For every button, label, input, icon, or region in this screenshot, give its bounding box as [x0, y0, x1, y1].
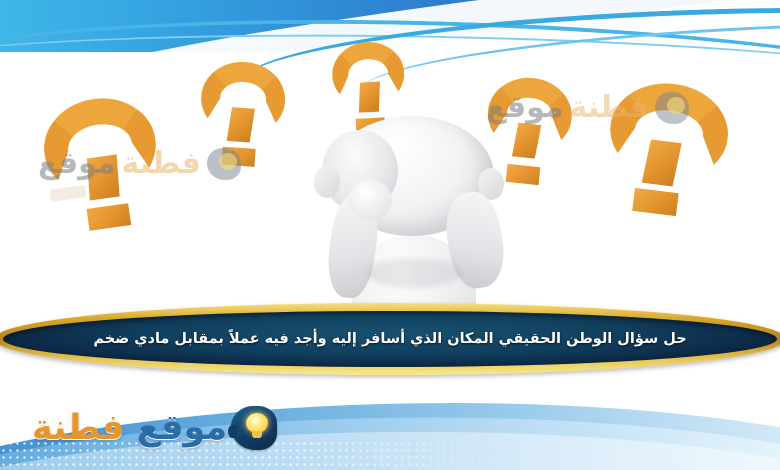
question-mark-icon	[192, 59, 295, 171]
lightbulb-base	[252, 431, 262, 438]
question-banner: حل سؤال الوطن الحقيقي المكان الذي أسافر …	[0, 303, 780, 375]
head-lightbulb-icon	[231, 406, 277, 450]
banner-gold-frame: حل سؤال الوطن الحقيقي المكان الذي أسافر …	[0, 303, 780, 375]
question-mark-icon	[32, 88, 179, 235]
site-name-prefix: موقع	[137, 408, 227, 448]
site-logo[interactable]: موقع فطنة	[32, 406, 277, 450]
banner-body: حل سؤال الوطن الحقيقي المكان الذي أسافر …	[3, 311, 777, 367]
lightbulb-glow	[246, 413, 268, 433]
question-mark-icon	[593, 76, 750, 222]
site-logo-text: موقع فطنة	[32, 411, 227, 446]
site-name-accent: فطنة	[32, 408, 125, 448]
thumbnail-canvas: فطنة موقع فطنة موقع حل سؤال الوطن الحقيق…	[0, 0, 780, 470]
banner-question-text: حل سؤال الوطن الحقيقي المكان الذي أسافر …	[93, 331, 686, 347]
